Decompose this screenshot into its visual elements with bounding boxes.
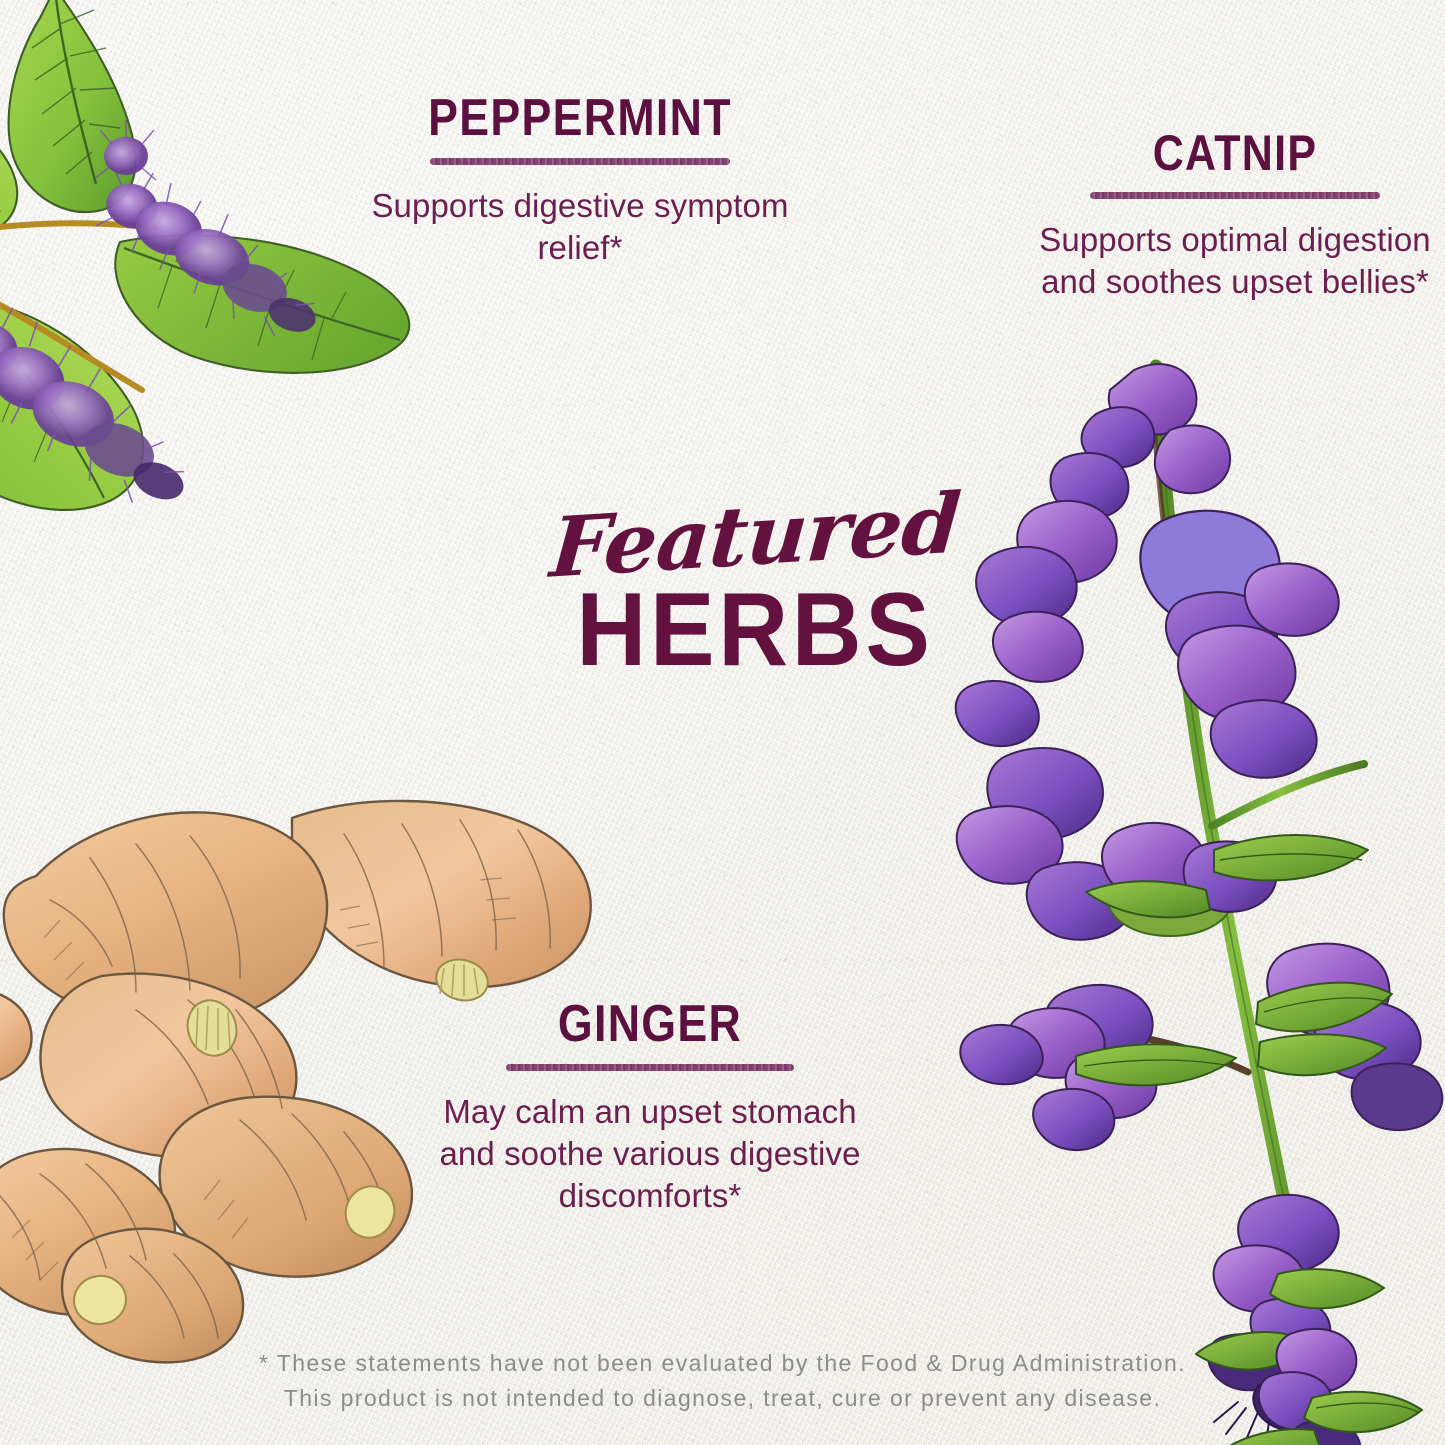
peppermint-illustration xyxy=(0,0,500,570)
ginger-text-block: GINGER May calm an upset stomach and soo… xyxy=(430,998,870,1218)
ginger-description: May calm an upset stomach and soothe var… xyxy=(430,1091,870,1218)
disclaimer-line-2: This product is not intended to diagnose… xyxy=(0,1381,1445,1417)
featured-herbs-poster: PEPPERMINT Supports digestive symptom re… xyxy=(0,0,1445,1445)
catnip-text-block: CATNIP Supports optimal digestion and so… xyxy=(1035,128,1435,303)
peppermint-text-block: PEPPERMINT Supports digestive symptom re… xyxy=(340,92,820,269)
peppermint-rule xyxy=(430,158,730,165)
catnip-rule xyxy=(1090,192,1380,199)
catnip-title: CATNIP xyxy=(1063,128,1407,178)
disclaimer-line-1: * These statements have not been evaluat… xyxy=(0,1346,1445,1382)
ginger-rule xyxy=(506,1064,794,1071)
herbs-stamp-word: HERBS xyxy=(536,578,973,682)
featured-herbs-wordmark: Featured HERBS xyxy=(520,498,990,682)
catnip-illustration xyxy=(960,330,1445,1445)
peppermint-title: PEPPERMINT xyxy=(374,92,787,144)
catnip-description: Supports optimal digestion and soothes u… xyxy=(1035,219,1435,303)
fda-disclaimer: * These statements have not been evaluat… xyxy=(0,1346,1445,1417)
peppermint-description: Supports digestive symptom relief* xyxy=(340,185,820,269)
ginger-title: GINGER xyxy=(461,998,839,1050)
